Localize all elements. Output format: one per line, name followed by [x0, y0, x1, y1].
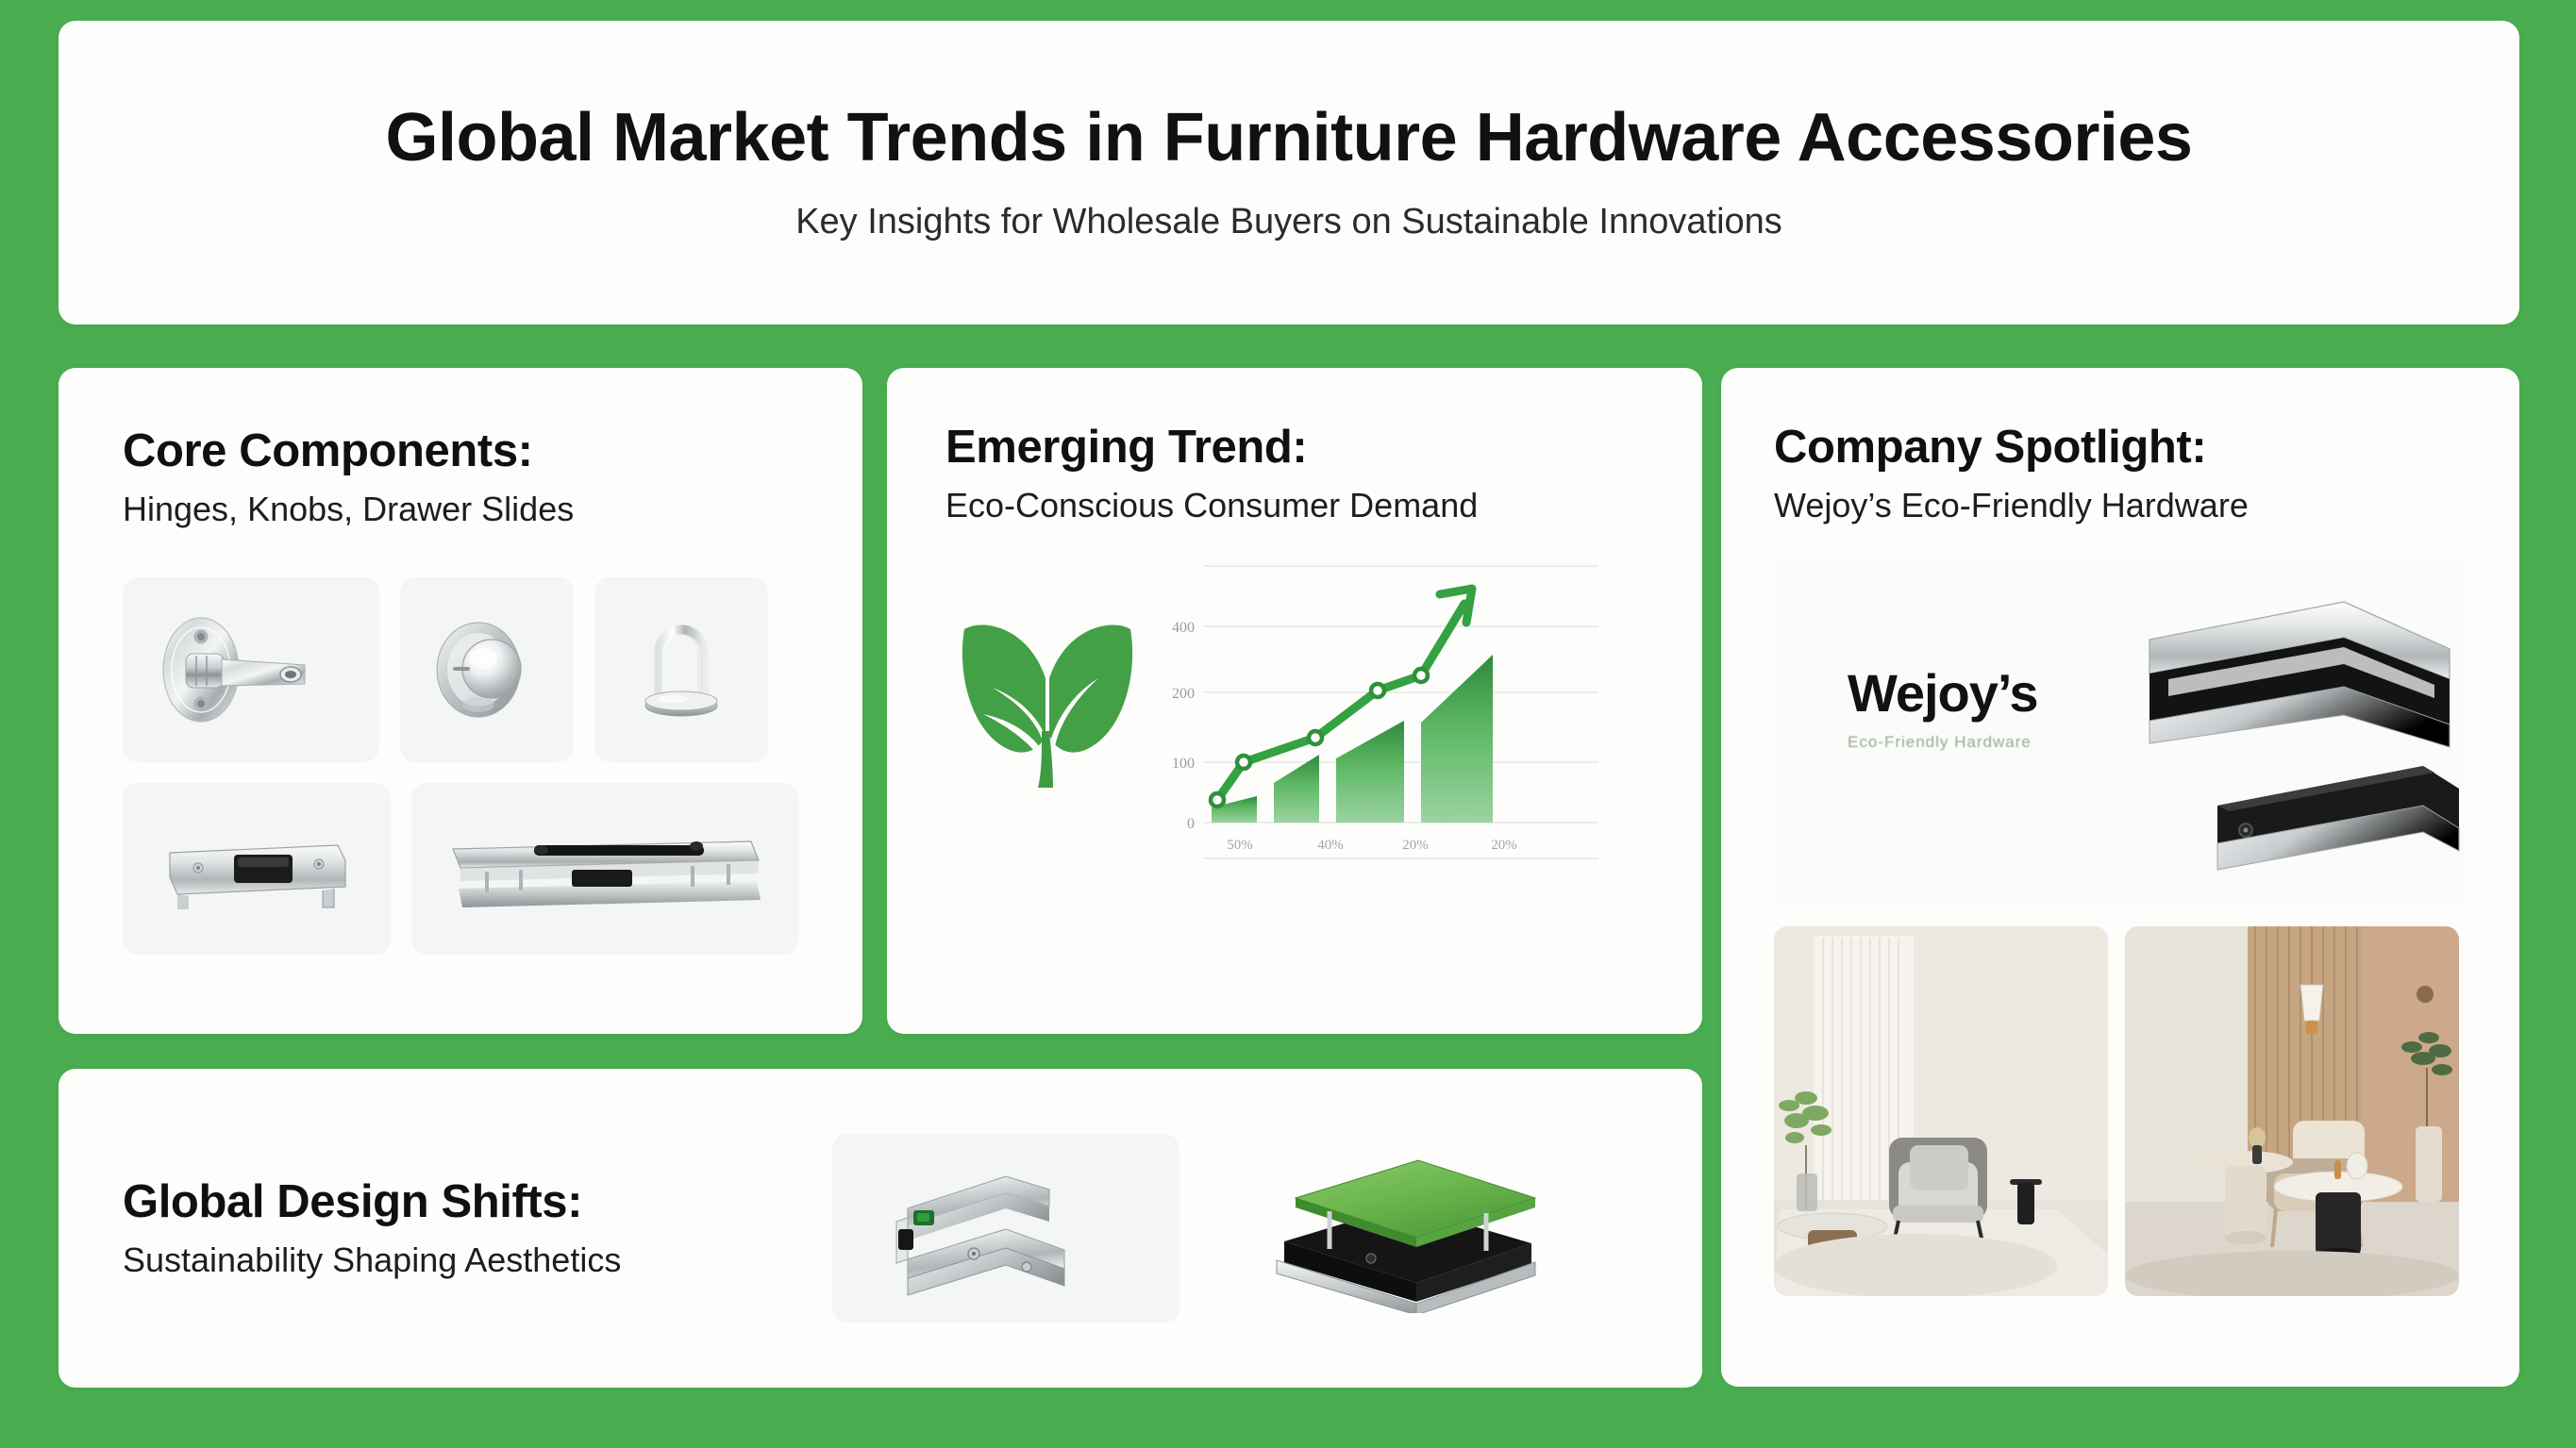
design-shifts-heading: Global Design Shifts: — [123, 1177, 832, 1227]
living-room-illustration — [1774, 926, 2108, 1296]
infographic-root: Global Market Trends in Furniture Hardwa… — [0, 0, 2576, 1448]
hinge-with-lever-arm-thumbnail — [123, 577, 379, 762]
green-top-glass-clamp-thumbnail — [1236, 1134, 1576, 1323]
emerging-trend-subheading: Eco-Conscious Consumer Demand — [945, 486, 1644, 524]
page-subtitle: Key Insights for Wholesale Buyers on Sus… — [795, 202, 1782, 242]
svg-text:400: 400 — [1172, 620, 1195, 636]
green-top-glass-clamp-icon — [1260, 1143, 1552, 1313]
chart-x-tick-labels: 50% 40% 20% 20% — [1227, 838, 1517, 853]
drawer-slide-bracket-icon — [143, 807, 370, 930]
chart-x-label-2: 20% — [1402, 838, 1429, 853]
round-cabinet-knob-thumbnail — [400, 577, 574, 762]
company-spotlight-subheading: Wejoy’s Eco-Friendly Hardware — [1774, 486, 2467, 524]
emerging-trend-body: 400 200 100 0 — [945, 553, 1644, 864]
chart-x-label-0: 50% — [1227, 838, 1253, 853]
design-shifts-text-block: Global Design Shifts: Sustainability Sha… — [59, 1177, 832, 1279]
wejoys-brand-name: Wejoy’s — [1848, 662, 2038, 724]
core-components-card: Core Components: Hinges, Knobs, Drawer S… — [59, 368, 862, 1034]
svg-text:100: 100 — [1172, 756, 1195, 772]
drawer-slide-bracket-thumbnail — [123, 783, 391, 955]
wejoys-brand-tagline: Eco-Friendly Hardware — [1848, 733, 2038, 752]
leaf-icon-container — [945, 612, 1149, 805]
svg-text:0: 0 — [1187, 816, 1195, 832]
design-shifts-subheading: Sustainability Shaping Aesthetics — [123, 1240, 832, 1279]
hardware-thumbnail-row-top — [123, 577, 798, 762]
chart-bars — [1212, 655, 1493, 823]
company-spotlight-card: Company Spotlight: Wejoy’s Eco-Friendly … — [1721, 368, 2519, 1387]
chart-x-label-3: 20% — [1491, 838, 1517, 853]
hinge-with-lever-arm-icon — [142, 599, 360, 741]
interior-photo-row — [1774, 926, 2467, 1296]
interior-photo-living-room — [1774, 926, 2108, 1296]
full-extension-drawer-slide-thumbnail — [411, 783, 798, 955]
chrome-glass-clamp-thumbnail — [832, 1134, 1179, 1323]
core-components-subheading: Hinges, Knobs, Drawer Slides — [123, 490, 798, 528]
svg-text:200: 200 — [1172, 686, 1195, 702]
header-card: Global Market Trends in Furniture Hardwa… — [59, 21, 2519, 325]
chart-x-label-1: 40% — [1317, 838, 1344, 853]
page-title: Global Market Trends in Furniture Hardwa… — [386, 103, 2193, 175]
hardware-thumbnail-row-bottom — [123, 783, 798, 955]
wejoys-product-hero-image: Wejoy’s Eco-Friendly Hardware — [1774, 558, 2467, 906]
core-components-heading: Core Components: — [123, 426, 798, 476]
company-spotlight-heading: Company Spotlight: — [1774, 423, 2467, 473]
demand-growth-chart: 400 200 100 0 — [1153, 553, 1644, 864]
full-extension-drawer-slide-icon — [430, 807, 779, 930]
lounge-illustration — [2125, 926, 2459, 1296]
design-shifts-image-row — [832, 1134, 1576, 1323]
emerging-trend-card: Emerging Trend: Eco-Conscious Consumer D… — [887, 368, 1702, 1034]
two-leaf-eco-icon — [955, 612, 1140, 805]
round-cabinet-knob-icon — [416, 599, 558, 741]
chrome-glass-clamp-icon — [864, 1148, 1147, 1308]
emerging-trend-heading: Emerging Trend: — [945, 423, 1644, 473]
demand-growth-chart-svg: 400 200 100 0 — [1153, 553, 1606, 864]
arch-handle-pull-icon — [611, 599, 752, 741]
chart-y-tick-labels: 400 200 100 0 — [1172, 620, 1195, 832]
arch-handle-pull-thumbnail — [594, 577, 768, 762]
interior-photo-lounge — [2125, 926, 2459, 1296]
global-design-shifts-card: Global Design Shifts: Sustainability Sha… — [59, 1069, 1702, 1388]
